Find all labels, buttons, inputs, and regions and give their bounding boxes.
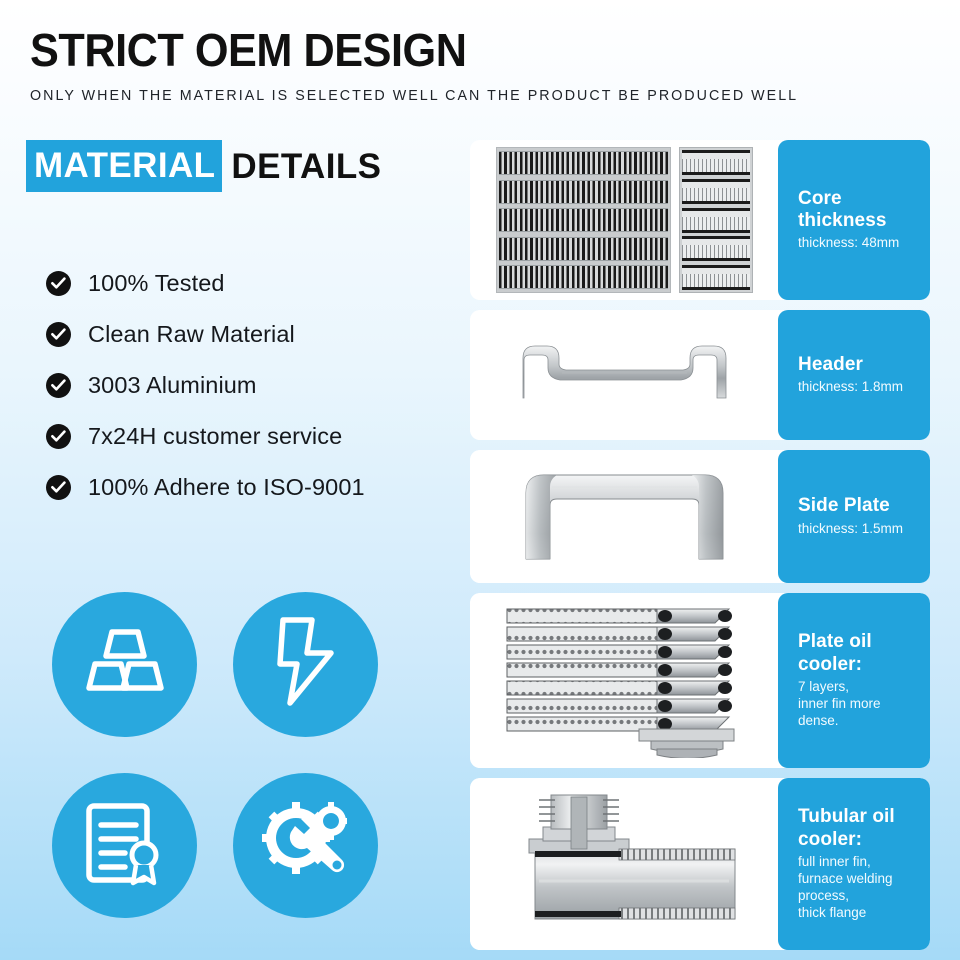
- section-heading-plain: DETAILS: [222, 149, 381, 184]
- card-subtitle: thickness: 1.5mm: [798, 521, 930, 538]
- card-label: Plate oil cooler: 7 layers, inner fin mo…: [778, 593, 930, 768]
- list-item: 100% Tested: [46, 270, 470, 297]
- check-icon: [46, 271, 71, 296]
- feature-icon-certificate: [52, 773, 197, 918]
- card-subtitle: full inner fin, furnace welding process,…: [798, 854, 930, 922]
- list-item-label: 3003 Aluminium: [88, 372, 257, 399]
- left-column: MATERIAL DETAILS 100% Tested Clean Raw M…: [0, 140, 470, 525]
- card-title: Core thickness: [798, 188, 930, 233]
- feature-icon-grid: [52, 592, 378, 918]
- check-icon: [46, 322, 71, 347]
- card-label: Header thickness: 1.8mm: [778, 310, 930, 440]
- radiator-core-photo: [470, 140, 778, 300]
- lightning-bolt-icon: [271, 615, 341, 714]
- certificate-icon: [81, 799, 169, 892]
- card-label: Side Plate thickness: 1.5mm: [778, 450, 930, 583]
- checklist: 100% Tested Clean Raw Material 3003 Alum…: [46, 270, 470, 501]
- list-item-label: Clean Raw Material: [88, 321, 295, 348]
- header: STRICT OEM DESIGN ONLY WHEN THE MATERIAL…: [0, 0, 960, 104]
- card-title: Side Plate: [798, 495, 930, 517]
- plate-oil-cooler-photo: [470, 593, 778, 768]
- product-card: Tubular oil cooler: full inner fin, furn…: [470, 778, 930, 950]
- gears-wrench-icon: [260, 800, 352, 891]
- card-title: Header: [798, 354, 930, 376]
- product-card: Side Plate thickness: 1.5mm: [470, 450, 930, 583]
- product-card: Core thickness thickness: 48mm: [470, 140, 930, 300]
- card-subtitle: thickness: 1.8mm: [798, 379, 930, 396]
- header-part-photo: [470, 310, 778, 440]
- list-item: 100% Adhere to ISO-9001: [46, 474, 470, 501]
- card-subtitle: 7 layers, inner fin more dense.: [798, 679, 930, 730]
- list-item: 7x24H customer service: [46, 423, 470, 450]
- card-label: Tubular oil cooler: full inner fin, furn…: [778, 778, 930, 950]
- check-icon: [46, 424, 71, 449]
- card-title: Tubular oil cooler:: [798, 806, 930, 851]
- page-title: STRICT OEM DESIGN: [30, 26, 904, 74]
- check-icon: [46, 373, 71, 398]
- product-card: Header thickness: 1.8mm: [470, 310, 930, 440]
- feature-icon-gears-wrench: [233, 773, 378, 918]
- list-item-label: 100% Tested: [88, 270, 225, 297]
- page-subtitle: ONLY WHEN THE MATERIAL IS SELECTED WELL …: [30, 88, 946, 104]
- feature-icon-lightning: [233, 592, 378, 737]
- list-item-label: 7x24H customer service: [88, 423, 342, 450]
- list-item-label: 100% Adhere to ISO-9001: [88, 474, 365, 501]
- list-item: 3003 Aluminium: [46, 372, 470, 399]
- tubular-oil-cooler-photo: [470, 778, 778, 950]
- section-heading: MATERIAL DETAILS: [26, 140, 470, 192]
- product-card: Plate oil cooler: 7 layers, inner fin mo…: [470, 593, 930, 768]
- card-title: Plate oil cooler:: [798, 631, 930, 676]
- metal-ingots-icon: [82, 622, 168, 707]
- product-cards: Core thickness thickness: 48mm Header th…: [470, 140, 930, 960]
- side-plate-part-photo: [470, 450, 778, 583]
- card-subtitle: thickness: 48mm: [798, 235, 930, 252]
- feature-icon-metal-ingots: [52, 592, 197, 737]
- check-icon: [46, 475, 71, 500]
- section-heading-highlight: MATERIAL: [26, 140, 222, 192]
- card-label: Core thickness thickness: 48mm: [778, 140, 930, 300]
- list-item: Clean Raw Material: [46, 321, 470, 348]
